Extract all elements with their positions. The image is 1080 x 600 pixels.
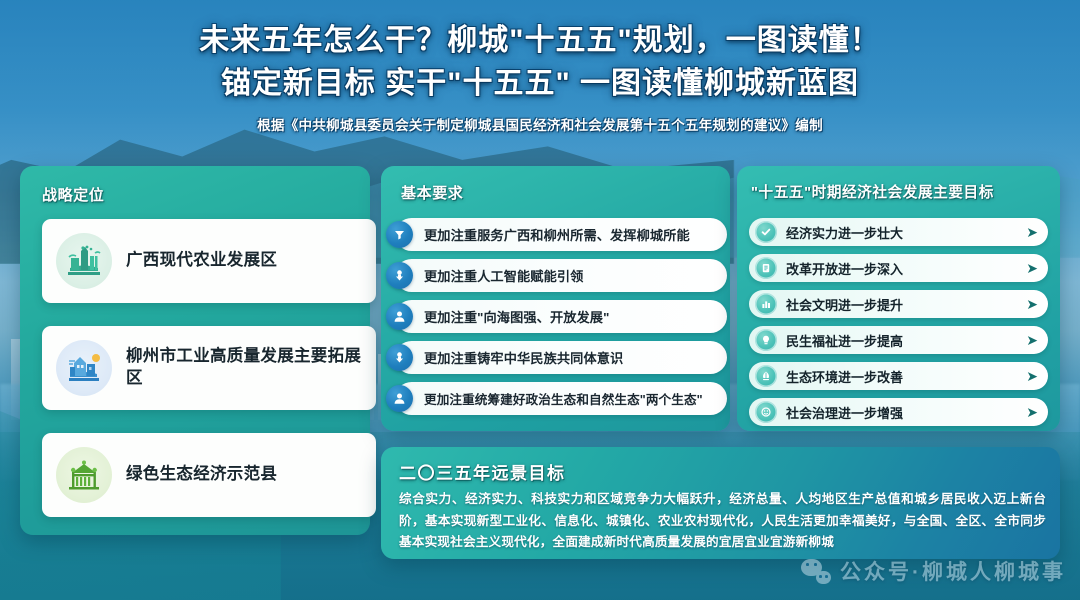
chevron-right-icon[interactable]: ➤ [1026, 405, 1038, 419]
goal-label-1: 经济实力进一步壮大 [786, 223, 903, 242]
person-download-icon [386, 344, 413, 371]
leaf-icon [755, 365, 777, 387]
poster-headline: 未来五年怎么干？柳城"十五五"规划，一图读懂！ 锚定新目标 实干"十五五" 一图… [0, 20, 1080, 134]
goal-label-3: 社会文明进一步提升 [786, 295, 903, 314]
strategy-panel-title: 战略定位 [42, 184, 104, 205]
industry-buildings-icon [56, 340, 112, 396]
goal-label-5: 生态环境进一步改善 [786, 367, 903, 386]
strategy-card-2[interactable]: 柳州市工业高质量发展主要拓展区 [42, 326, 376, 410]
lightbulb-icon [755, 329, 777, 351]
agriculture-buildings-icon [56, 233, 112, 289]
headline-line-2: 锚定新目标 实干"十五五" 一图读懂柳城新蓝图 [0, 63, 1080, 106]
strategy-label-1: 广西现代农业发展区 [126, 250, 277, 272]
vision-panel-body: 综合实力、经济实力、科技实力和区域竞争力大幅跃升，经济总量、人均地区生产总值和城… [399, 489, 1046, 554]
strategy-card-3[interactable]: 绿色生态经济示范县 [42, 433, 376, 517]
requirement-row-1[interactable]: 更加注重服务广西和柳州所需、发挥柳城所能 [395, 218, 727, 251]
requirement-label-1: 更加注重服务广西和柳州所需、发挥柳城所能 [424, 225, 690, 244]
green-pavilion-icon [56, 447, 112, 503]
bar-chart-icon [755, 293, 777, 315]
goal-row-1[interactable]: 经济实力进一步壮大 ➤ [749, 218, 1048, 246]
requirement-row-4[interactable]: 更加注重铸牢中华民族共同体意识 [395, 341, 727, 374]
chevron-right-icon[interactable]: ➤ [1026, 333, 1038, 347]
strategy-label-2: 柳州市工业高质量发展主要拓展区 [126, 346, 362, 390]
wechat-icon [801, 558, 831, 584]
basic-panel-title: 基本要求 [401, 182, 463, 203]
chevron-right-icon[interactable]: ➤ [1026, 369, 1038, 383]
infographic-poster: 未来五年怎么干？柳城"十五五"规划，一图读懂！ 锚定新目标 实干"十五五" 一图… [0, 0, 1080, 600]
requirement-row-2[interactable]: 更加注重人工智能赋能引领 [395, 259, 727, 292]
goal-label-2: 改革开放进一步深入 [786, 259, 903, 278]
watermark-text: 公众号·柳城人柳城事 [840, 556, 1066, 586]
strategy-card-1[interactable]: 广西现代农业发展区 [42, 219, 376, 303]
goals-panel-title: "十五五"时期经济社会发展主要目标 [751, 181, 994, 202]
requirement-row-5[interactable]: 更加注重统筹建好政治生态和自然生态"两个生态" [395, 382, 727, 415]
document-icon [755, 257, 777, 279]
goal-row-6[interactable]: 社会治理进一步增强 ➤ [749, 398, 1048, 426]
watermark: 公众号·柳城人柳城事 [801, 556, 1066, 586]
requirement-label-5: 更加注重统筹建好政治生态和自然生态"两个生态" [424, 389, 703, 408]
goal-row-4[interactable]: 民生福祉进一步提高 ➤ [749, 326, 1048, 354]
person-download-icon [386, 262, 413, 289]
requirement-label-3: 更加注重"向海图强、开放发展" [424, 307, 609, 326]
smiley-icon [755, 401, 777, 423]
headline-subtitle: 根据《中共柳城县委员会关于制定柳城县国民经济和社会发展第十五个五年规划的建议》编… [0, 114, 1080, 134]
goal-label-4: 民生福祉进一步提高 [786, 331, 903, 350]
requirement-label-4: 更加注重铸牢中华民族共同体意识 [424, 348, 623, 367]
chevron-right-icon[interactable]: ➤ [1026, 261, 1038, 275]
headline-line-1: 未来五年怎么干？柳城"十五五"规划，一图读懂！ [0, 20, 1080, 63]
person-icon [386, 385, 413, 412]
check-circle-icon [755, 221, 777, 243]
vision-2035-panel: 二〇三五年远景目标 综合实力、经济实力、科技实力和区域竞争力大幅跃升，经济总量、… [381, 447, 1060, 559]
funnel-icon [386, 221, 413, 248]
basic-requirements-panel: 基本要求 更加注重服务广西和柳州所需、发挥柳城所能 更加注重人工智能赋能引领 更… [381, 166, 730, 431]
strategy-panel: 战略定位 广西现代农业发展区 [20, 166, 370, 535]
goal-row-5[interactable]: 生态环境进一步改善 ➤ [749, 362, 1048, 390]
person-icon [386, 303, 413, 330]
main-goals-panel: "十五五"时期经济社会发展主要目标 经济实力进一步壮大 ➤ 改革开放进一步深入 … [737, 166, 1060, 431]
requirement-row-3[interactable]: 更加注重"向海图强、开放发展" [395, 300, 727, 333]
chevron-right-icon[interactable]: ➤ [1026, 225, 1038, 239]
requirement-label-2: 更加注重人工智能赋能引领 [424, 266, 583, 285]
goal-row-3[interactable]: 社会文明进一步提升 ➤ [749, 290, 1048, 318]
chevron-right-icon[interactable]: ➤ [1026, 297, 1038, 311]
goal-label-6: 社会治理进一步增强 [786, 403, 903, 422]
goal-row-2[interactable]: 改革开放进一步深入 ➤ [749, 254, 1048, 282]
strategy-label-3: 绿色生态经济示范县 [126, 464, 277, 486]
vision-panel-title: 二〇三五年远景目标 [399, 459, 566, 484]
